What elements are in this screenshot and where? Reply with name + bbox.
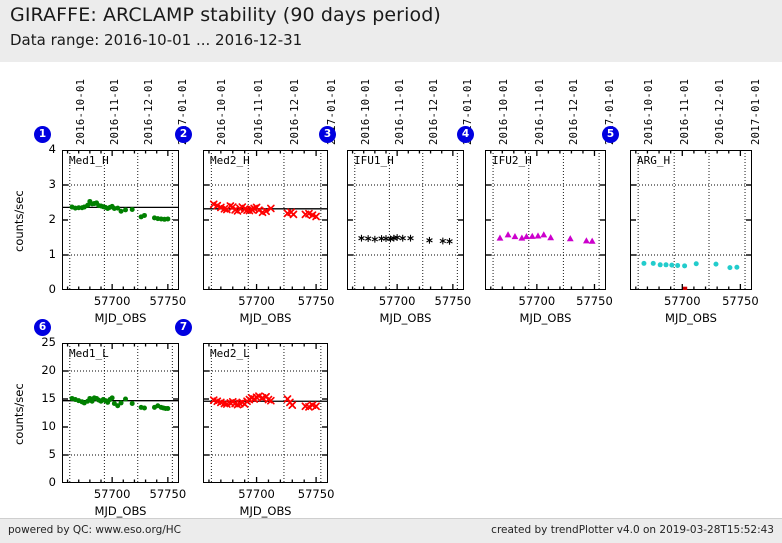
- x-tick-label: 57750: [428, 294, 478, 308]
- plot-panel-med1-l[interactable]: Med1_L: [62, 343, 179, 483]
- plot-panel-ifu2-h[interactable]: IFU2_H: [485, 150, 606, 290]
- plot-panel-med1-h[interactable]: Med1_H: [62, 150, 179, 290]
- page-subtitle: Data range: 2016-10-01 ... 2016-12-31: [10, 31, 302, 49]
- plot-area: [62, 343, 179, 483]
- plot-panel-ifu1-h[interactable]: IFU1_H: [347, 150, 464, 290]
- x-tick-label: 57700: [372, 294, 422, 308]
- trendplotter-page: GIRAFFE: ARCLAMP stability (90 days peri…: [0, 0, 782, 542]
- y-tick-label: 3: [24, 177, 56, 191]
- date-tick-label: 2016-12-01: [289, 79, 301, 145]
- x-axis-label: MJD_OBS: [226, 311, 306, 325]
- date-tick-label: 2016-12-01: [143, 79, 155, 145]
- date-tick-label: 2016-12-01: [714, 79, 726, 145]
- date-tick-label: 2016-10-01: [216, 79, 228, 145]
- panel-badge-3[interactable]: 3: [319, 126, 336, 143]
- series-label: Med1_H: [69, 154, 109, 167]
- x-axis-label: MJD_OBS: [81, 311, 161, 325]
- y-tick-label: 4: [24, 142, 56, 156]
- date-tick-label: 2016-10-01: [75, 79, 87, 145]
- y-tick-label: 10: [24, 419, 56, 433]
- series-label: IFU1_H: [354, 154, 394, 167]
- y-tick-label: 1: [24, 247, 56, 261]
- panel-badge-5[interactable]: 5: [602, 126, 619, 143]
- date-tick-label: 2016-10-01: [643, 79, 655, 145]
- page-footer: powered by QC: www.eso.org/HC created by…: [0, 518, 782, 543]
- panel-badge-6[interactable]: 6: [34, 319, 51, 336]
- panel-badge-7[interactable]: 7: [175, 319, 192, 336]
- series-label: Med2_H: [210, 154, 250, 167]
- y-tick-label: 20: [24, 363, 56, 377]
- plot-panel-arg-h[interactable]: ARG_H: [630, 150, 752, 290]
- date-tick-label: 2016-10-01: [360, 79, 372, 145]
- date-tick-label: 2017-01-01: [750, 79, 762, 145]
- y-tick-label: 0: [24, 475, 56, 489]
- date-tick-label: 2016-11-01: [679, 79, 691, 145]
- series-label: IFU2_H: [492, 154, 532, 167]
- series-label: Med1_L: [69, 347, 109, 360]
- date-tick-label: 2016-10-01: [498, 79, 510, 145]
- date-tick-label: 2016-11-01: [394, 79, 406, 145]
- plot-canvas: Med1_H5770057750MJD_OBS01234counts/sec20…: [0, 62, 782, 518]
- y-axis-label: counts/sec: [12, 383, 26, 445]
- date-tick-label: 2016-11-01: [109, 79, 121, 145]
- x-tick-label: 57750: [143, 294, 193, 308]
- page-header: GIRAFFE: ARCLAMP stability (90 days peri…: [0, 0, 782, 62]
- x-tick-label: 57750: [291, 487, 341, 501]
- x-tick-label: 57750: [291, 294, 341, 308]
- x-axis-label: MJD_OBS: [226, 504, 306, 518]
- plot-area: [203, 150, 328, 290]
- x-axis-label: MJD_OBS: [81, 504, 161, 518]
- footer-generator: created by trendPlotter v4.0 on 2019-03-…: [491, 524, 774, 536]
- x-tick-label: 57700: [87, 487, 137, 501]
- plot-area: [485, 150, 606, 290]
- panel-badge-4[interactable]: 4: [457, 126, 474, 143]
- plot-panel-med2-l[interactable]: Med2_L: [203, 343, 328, 483]
- x-axis-label: MJD_OBS: [506, 311, 586, 325]
- page-title: GIRAFFE: ARCLAMP stability (90 days peri…: [10, 4, 441, 26]
- date-tick-label: 2016-12-01: [428, 79, 440, 145]
- x-axis-label: MJD_OBS: [366, 311, 446, 325]
- x-tick-label: 57700: [657, 294, 707, 308]
- x-axis-label: MJD_OBS: [651, 311, 731, 325]
- x-tick-label: 57750: [715, 294, 765, 308]
- x-tick-label: 57700: [87, 294, 137, 308]
- y-tick-label: 15: [24, 391, 56, 405]
- date-tick-label: 2016-12-01: [568, 79, 580, 145]
- plot-panel-med2-h[interactable]: Med2_H: [203, 150, 328, 290]
- y-tick-label: 5: [24, 447, 56, 461]
- panel-badge-1[interactable]: 1: [34, 126, 51, 143]
- series-label: Med2_L: [210, 347, 250, 360]
- plot-area: [630, 150, 752, 290]
- y-axis-label: counts/sec: [12, 190, 26, 252]
- series-label: ARG_H: [637, 154, 670, 167]
- x-tick-label: 57750: [143, 487, 193, 501]
- y-tick-label: 25: [24, 335, 56, 349]
- x-tick-label: 57700: [512, 294, 562, 308]
- plot-area: [62, 150, 179, 290]
- y-tick-label: 0: [24, 282, 56, 296]
- footer-credit: powered by QC: www.eso.org/HC: [8, 524, 181, 536]
- x-tick-label: 57700: [232, 487, 282, 501]
- y-tick-label: 2: [24, 212, 56, 226]
- date-tick-label: 2016-11-01: [253, 79, 265, 145]
- x-tick-label: 57700: [232, 294, 282, 308]
- plot-area: [347, 150, 464, 290]
- x-tick-label: 57750: [569, 294, 619, 308]
- plot-area: [203, 343, 328, 483]
- date-tick-label: 2016-11-01: [534, 79, 546, 145]
- panel-badge-2[interactable]: 2: [175, 126, 192, 143]
